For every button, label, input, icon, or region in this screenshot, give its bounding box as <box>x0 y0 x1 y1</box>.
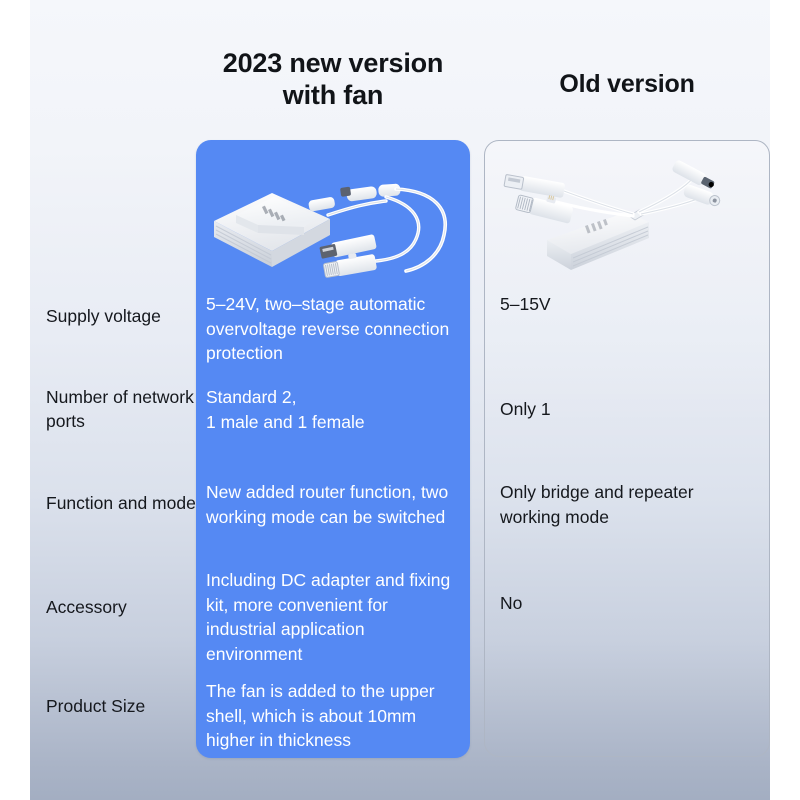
row-new-supply-voltage: 5–24V, two–stage automatic overvoltage r… <box>206 292 462 366</box>
row-old-network-ports: Only 1 <box>500 397 756 422</box>
old-version-product-photo <box>487 160 767 290</box>
row-new-accessory: Including DC adapter and fixing kit, mor… <box>206 568 462 666</box>
row-label-supply-voltage: Supply voltage <box>46 304 196 328</box>
row-old-function-and-mode: Only bridge and repeater working mode <box>500 480 756 529</box>
row-old-supply-voltage: 5–15V <box>500 292 756 317</box>
row-label-function-and-mode: Function and mode <box>46 491 196 515</box>
new-version-product-photo <box>200 163 468 289</box>
column-header-old-version: Old version <box>484 70 770 100</box>
row-label-product-size: Product Size <box>46 694 196 718</box>
column-header-new-version: 2023 new version with fan <box>196 48 470 112</box>
row-label-accessory: Accessory <box>46 595 196 619</box>
row-new-product-size: The fan is added to the upper shell, whi… <box>206 679 462 753</box>
row-label-network-ports: Number of network ports <box>46 385 196 433</box>
row-old-accessory: No <box>500 591 756 616</box>
row-new-network-ports: Standard 2, 1 male and 1 female <box>206 385 462 434</box>
comparison-infographic: 2023 new version with fan Old version <box>0 0 800 800</box>
row-new-function-and-mode: New added router function, two working m… <box>206 480 462 529</box>
